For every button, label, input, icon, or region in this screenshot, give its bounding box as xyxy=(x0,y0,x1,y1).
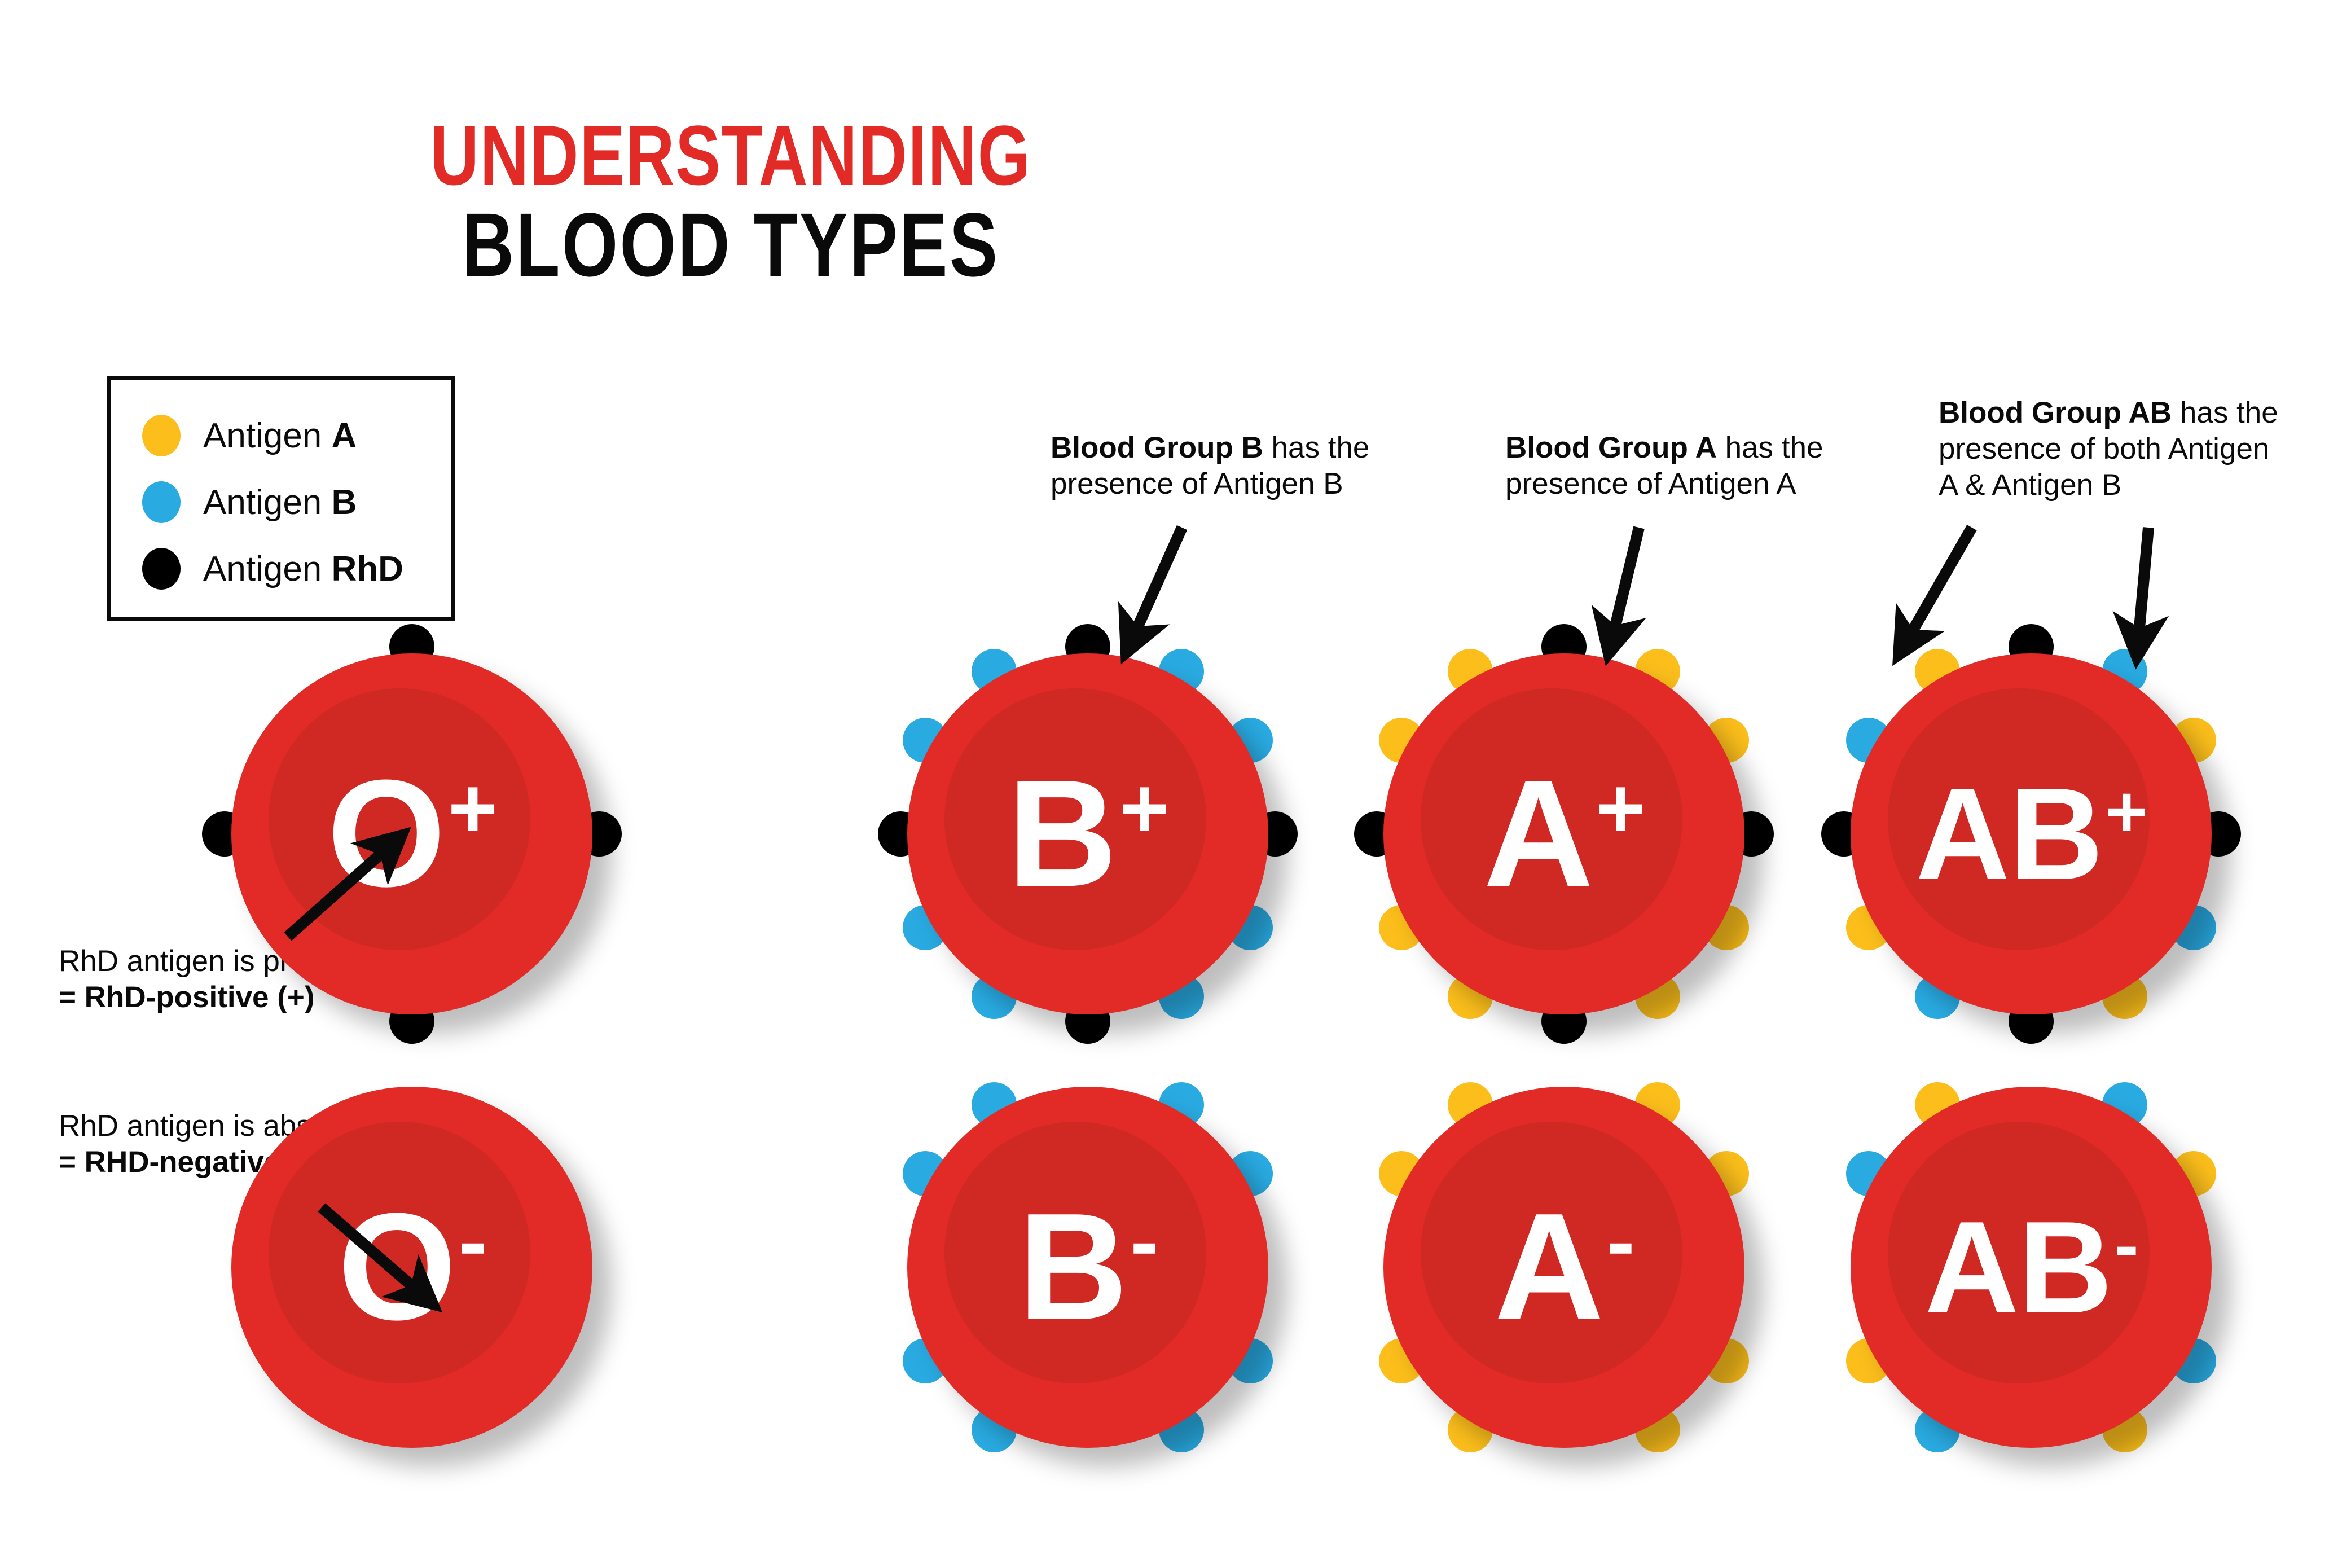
blood-group-letter: B xyxy=(1007,746,1116,921)
blood-cell-a-negative: A- xyxy=(1338,1042,1790,1493)
cell-membrane: A+ xyxy=(1383,653,1744,1014)
blood-type-label: O- xyxy=(231,1087,592,1448)
cell-membrane: AB+ xyxy=(1851,653,2212,1014)
rh-factor-sign: + xyxy=(448,766,496,851)
title-line-understanding: UNDERSTANDING xyxy=(146,113,1315,197)
blood-type-label: O+ xyxy=(231,653,592,1014)
blood-group-letter: AB xyxy=(1915,759,2102,910)
blood-type-label: A+ xyxy=(1383,653,1744,1014)
page-title: UNDERSTANDING BLOOD TYPES xyxy=(0,113,1461,292)
rh-factor-sign: - xyxy=(1130,1199,1157,1284)
antigen-a-dot-icon xyxy=(142,415,181,456)
annotation-blood-group-b: Blood Group B has the presence of Antige… xyxy=(1051,430,1412,502)
rh-factor-sign: - xyxy=(2115,1209,2138,1282)
blood-cell-b-positive: B+ xyxy=(862,608,1313,1060)
blood-cell-a-positive: A+ xyxy=(1338,608,1790,1060)
blood-group-letter: O xyxy=(327,746,445,921)
blood-group-letter: A xyxy=(1494,1180,1603,1355)
cell-membrane: B+ xyxy=(907,653,1268,1014)
legend-item-antigen-a: Antigen A xyxy=(142,402,451,469)
blood-type-label: B- xyxy=(907,1087,1268,1448)
cell-membrane: B- xyxy=(907,1087,1268,1448)
blood-type-label: B+ xyxy=(907,653,1268,1014)
legend-item-antigen-b: Antigen B xyxy=(142,469,451,535)
blood-group-letter: AB xyxy=(1924,1192,2111,1343)
antigen-rhd-dot-icon xyxy=(142,548,181,590)
blood-group-letter: A xyxy=(1483,746,1592,921)
blood-cell-ab-positive: AB+ xyxy=(1805,608,2257,1060)
annotation-blood-group-a: Blood Group A has the presence of Antige… xyxy=(1505,430,1878,502)
legend-item-label: Antigen B xyxy=(203,482,357,522)
rh-factor-sign: - xyxy=(1606,1199,1633,1284)
legend-item-label: Antigen RhD xyxy=(203,549,403,589)
blood-group-letter: O xyxy=(338,1180,455,1355)
blood-cell-o-negative: O- xyxy=(186,1042,638,1493)
blood-group-letter: B xyxy=(1018,1180,1127,1355)
rh-factor-sign: + xyxy=(2105,775,2147,849)
legend-box: Antigen A Antigen B Antigen RhD xyxy=(107,376,455,621)
annotation-blood-group-ab: Blood Group AB has the presence of both … xyxy=(1939,395,2288,503)
blood-type-label: AB+ xyxy=(1851,653,2212,1014)
blood-type-label: A- xyxy=(1383,1087,1744,1448)
antigen-b-dot-icon xyxy=(142,481,181,523)
blood-cell-b-negative: B- xyxy=(862,1042,1313,1493)
infographic-canvas: UNDERSTANDING BLOOD TYPES Antigen A Anti… xyxy=(0,0,2351,1568)
legend-item-label: Antigen A xyxy=(203,416,357,456)
blood-cell-ab-negative: AB- xyxy=(1805,1042,2257,1493)
rh-factor-sign: + xyxy=(1596,766,1644,851)
blood-type-label: AB- xyxy=(1851,1087,2212,1448)
rh-factor-sign: + xyxy=(1119,766,1168,851)
cell-membrane: O+ xyxy=(231,653,592,1014)
cell-membrane: O- xyxy=(231,1087,592,1448)
title-line-blood-types: BLOOD TYPES xyxy=(146,197,1315,292)
cell-membrane: A- xyxy=(1383,1087,1744,1448)
blood-cell-o-positive: O+ xyxy=(186,608,638,1060)
cell-membrane: AB- xyxy=(1851,1087,2212,1448)
rh-factor-sign: - xyxy=(459,1199,486,1284)
legend-item-antigen-rhd: Antigen RhD xyxy=(142,535,451,602)
